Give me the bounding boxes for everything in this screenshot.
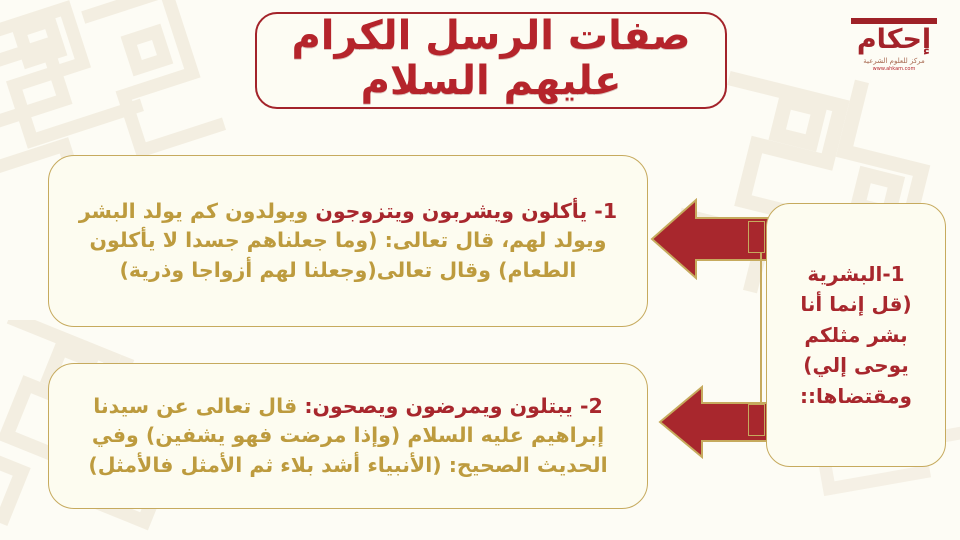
side-box-line: ومقتضاها:: xyxy=(800,381,912,411)
content-box-1-heading: 1- يأكلون ويشربون ويتزوجون xyxy=(315,199,617,223)
content-box-2-text: 2- يبتلون ويمرضون ويصحون: قال تعالى عن س… xyxy=(71,392,625,479)
content-box-2: 2- يبتلون ويمرضون ويصحون: قال تعالى عن س… xyxy=(48,363,648,509)
content-box-1: 1- يأكلون ويشربون ويتزوجون ويولدون كم يو… xyxy=(48,155,648,327)
brand-logo: إحكام مركز للعلوم الشرعية www.ahkam.com xyxy=(840,18,948,98)
slide-title-box: صفات الرسل الكرام عليهم السلام xyxy=(255,12,727,109)
side-box-rule xyxy=(760,252,762,405)
side-box: 1-البشرية (قل إنما أنا بشر مثلكم يوحى إل… xyxy=(766,203,946,467)
side-box-line: يوحى إلي) xyxy=(800,350,912,380)
side-box-text: 1-البشرية (قل إنما أنا بشر مثلكم يوحى إل… xyxy=(800,259,912,411)
side-box-tab-top xyxy=(748,221,765,253)
logo-wordmark: إحكام xyxy=(840,26,948,53)
content-box-2-heading: 2- يبتلون ويمرضون ويصحون: xyxy=(304,394,602,418)
page-title: صفات الرسل الكرام عليهم السلام xyxy=(275,14,707,104)
slide-canvas: صفات الرسل الكرام عليهم السلام إحكام مرك… xyxy=(0,0,960,540)
logo-subtitle: مركز للعلوم الشرعية xyxy=(840,57,948,65)
side-box-line: 1-البشرية xyxy=(800,259,912,289)
side-box-line: (قل إنما أنا xyxy=(800,289,912,319)
side-box-tab-bottom xyxy=(748,404,765,436)
logo-url: www.ahkam.com xyxy=(840,66,948,72)
side-box-line: بشر مثلكم xyxy=(800,320,912,350)
content-box-1-text: 1- يأكلون ويشربون ويتزوجون ويولدون كم يو… xyxy=(71,197,625,284)
